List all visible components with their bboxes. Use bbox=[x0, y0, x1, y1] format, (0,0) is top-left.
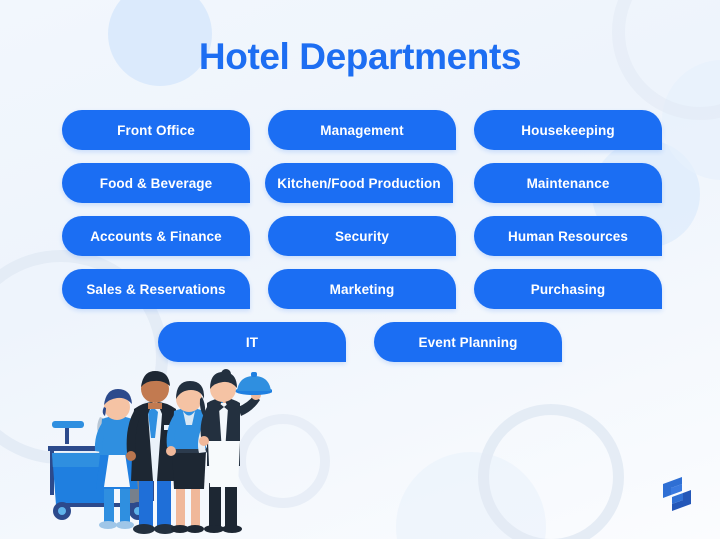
department-pill-kitchen-food-production[interactable]: Kitchen/Food Production bbox=[265, 163, 453, 203]
departments-row-1: Front Office Management Housekeeping bbox=[0, 110, 720, 150]
departments-row-2: Food & Beverage Kitchen/Food Production … bbox=[0, 163, 720, 203]
department-pill-food-and-beverage[interactable]: Food & Beverage bbox=[62, 163, 250, 203]
department-pill-accounts-and-finance[interactable]: Accounts & Finance bbox=[62, 216, 250, 256]
department-pill-management[interactable]: Management bbox=[268, 110, 456, 150]
departments-row-3: Accounts & Finance Security Human Resour… bbox=[0, 216, 720, 256]
department-pill-purchasing[interactable]: Purchasing bbox=[474, 269, 662, 309]
department-pill-human-resources[interactable]: Human Resources bbox=[474, 216, 662, 256]
hotel-staff-illustration bbox=[4, 367, 272, 539]
department-pill-sales-and-reservations[interactable]: Sales & Reservations bbox=[62, 269, 250, 309]
company-logo bbox=[660, 475, 694, 513]
departments-row-5: IT Event Planning bbox=[0, 322, 720, 362]
department-pill-it[interactable]: IT bbox=[158, 322, 346, 362]
departments-row-4: Sales & Reservations Marketing Purchasin… bbox=[0, 269, 720, 309]
waiter-figure bbox=[198, 369, 272, 533]
page-title: Hotel Departments bbox=[0, 36, 720, 78]
department-pill-event-planning[interactable]: Event Planning bbox=[374, 322, 562, 362]
department-pill-security[interactable]: Security bbox=[268, 216, 456, 256]
department-pill-marketing[interactable]: Marketing bbox=[268, 269, 456, 309]
decor-circle-bottom bbox=[396, 452, 546, 539]
decor-ring-bottom-center bbox=[478, 404, 624, 539]
department-pill-front-office[interactable]: Front Office bbox=[62, 110, 250, 150]
department-pill-maintenance[interactable]: Maintenance bbox=[474, 163, 662, 203]
departments-grid: Front Office Management Housekeeping Foo… bbox=[0, 110, 720, 375]
department-pill-housekeeping[interactable]: Housekeeping bbox=[474, 110, 662, 150]
slide-canvas: Hotel Departments Front Office Managemen… bbox=[0, 0, 720, 539]
